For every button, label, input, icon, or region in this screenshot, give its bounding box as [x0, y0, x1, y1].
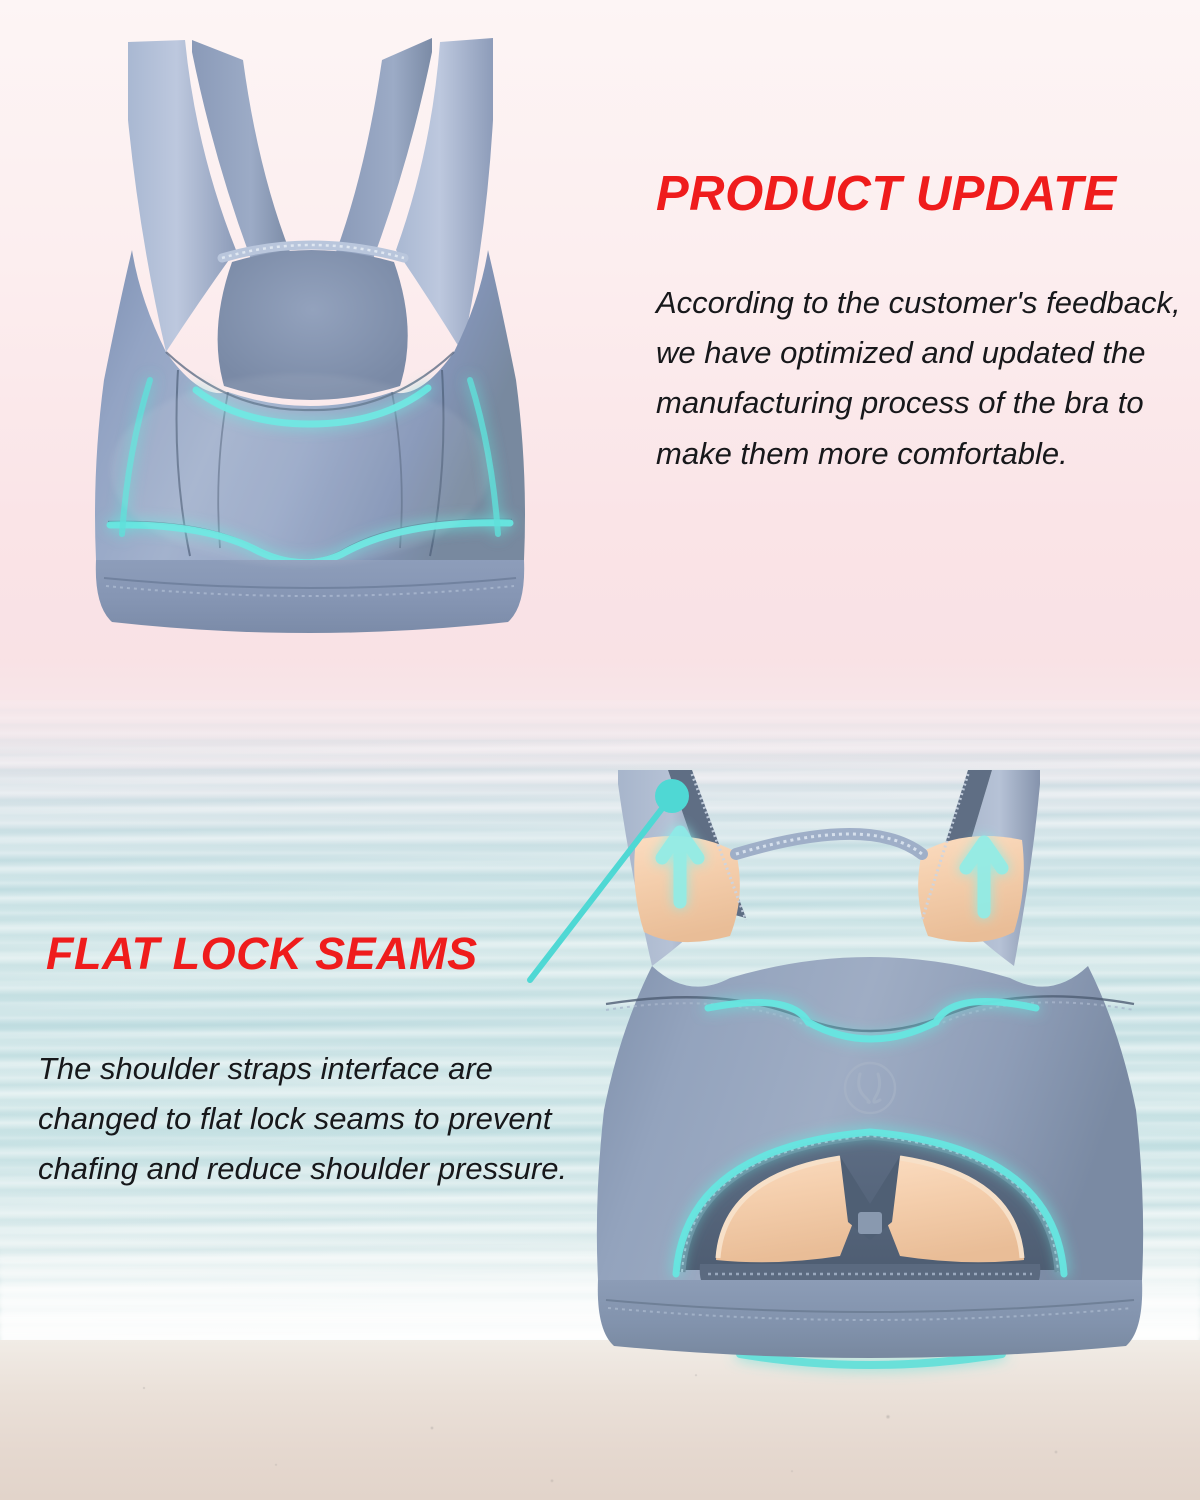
product-infographic-page: PRODUCT UPDATE According to the customer…	[0, 0, 1200, 1500]
product-image-front-view	[0, 0, 620, 660]
back-bottom-band	[598, 1280, 1142, 1358]
bottom-section-body-text: The shoulder straps interface are change…	[38, 1044, 568, 1195]
fabric-sheen	[110, 374, 490, 566]
bottom-section-headline: FLAT LOCK SEAMS	[46, 928, 478, 980]
center-clasp	[858, 1212, 882, 1234]
callout-leader-line	[530, 806, 664, 980]
back-neck-binding	[736, 834, 922, 854]
top-section-headline: PRODUCT UPDATE	[656, 166, 1117, 222]
flat-lock-callout	[520, 770, 740, 1000]
top-section-body-text: According to the customer's feedback, we…	[656, 278, 1184, 479]
callout-endpoint-dot	[655, 779, 689, 813]
